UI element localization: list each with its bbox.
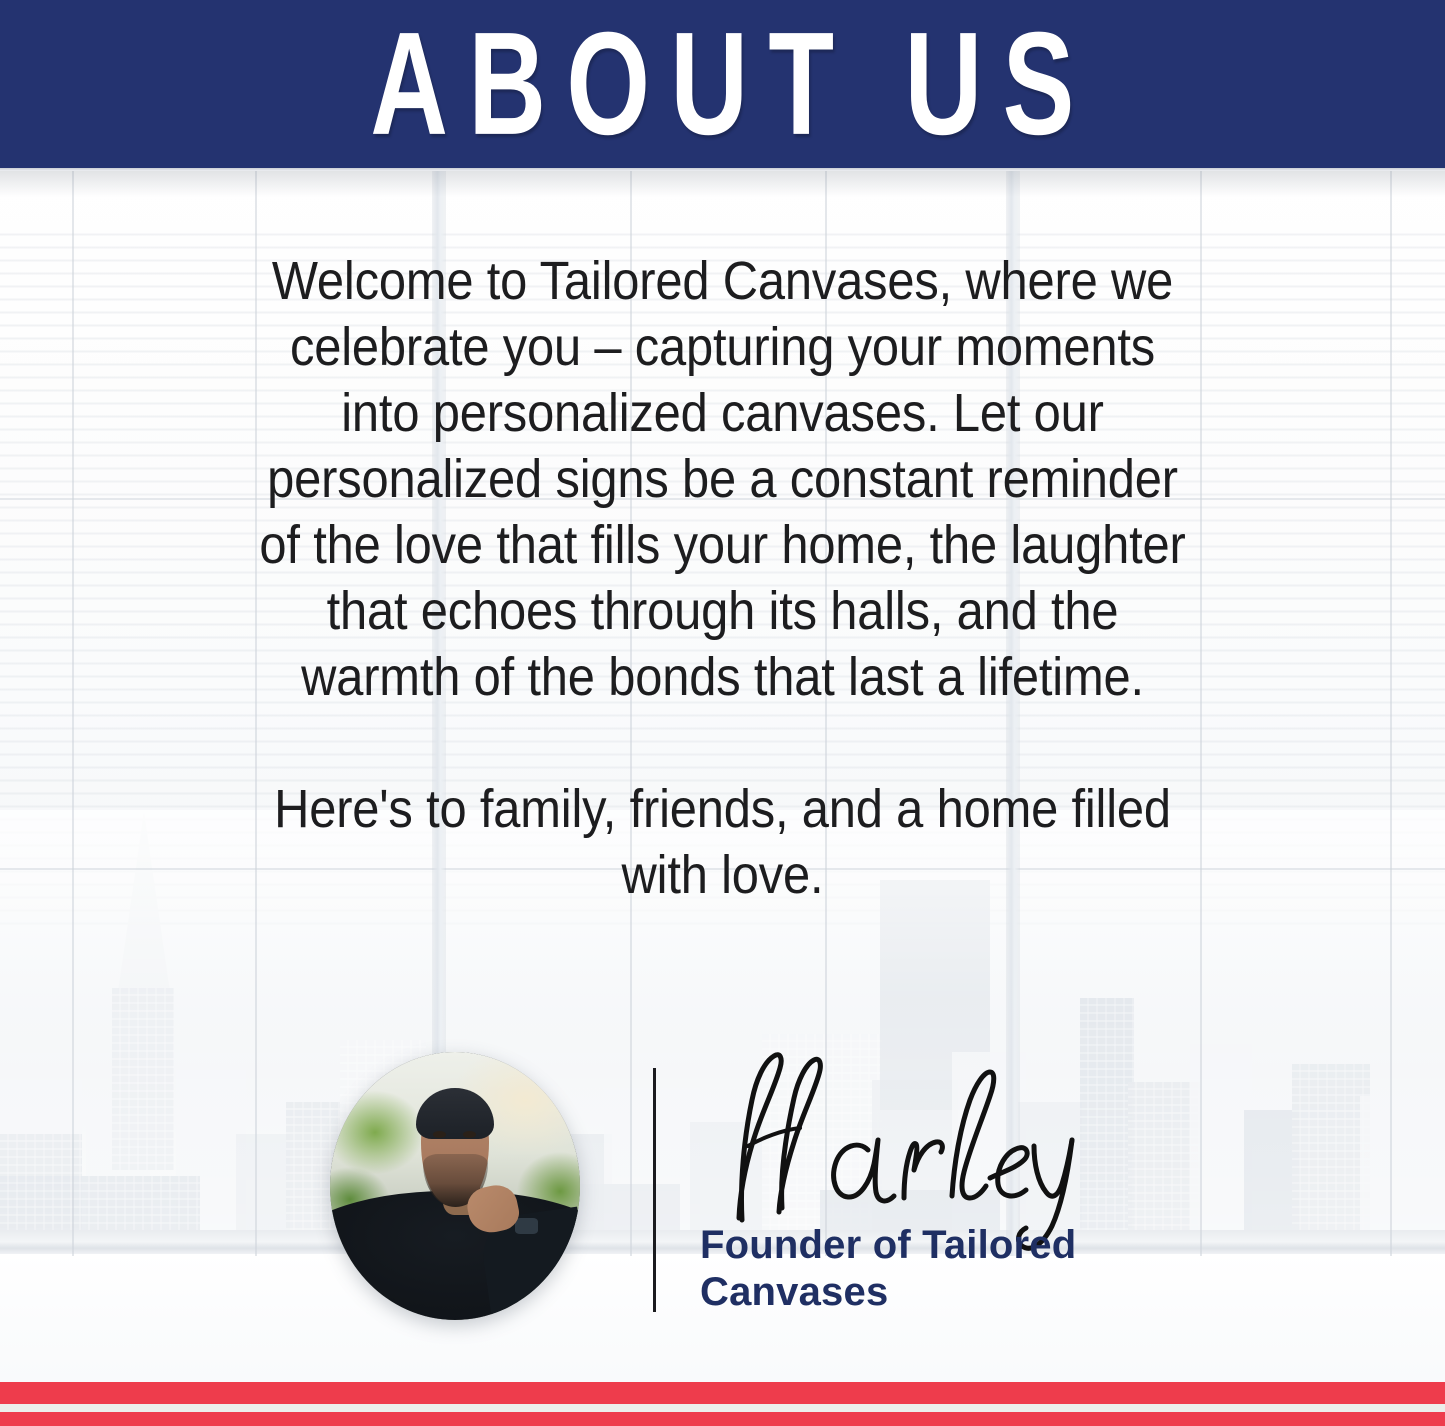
copy-line: that echoes through its halls, and the <box>69 578 1377 644</box>
page-title: ABOUT US <box>350 11 1095 157</box>
founder-role-line-1: Founder of Tailored <box>700 1222 1220 1269</box>
copy-line: of the love that fills your home, the la… <box>69 512 1377 578</box>
copy-line: celebrate you – capturing your moments <box>69 314 1377 380</box>
avatar <box>330 1052 580 1320</box>
founder-role-line-2: Canvases <box>700 1269 1220 1316</box>
copy-line: personalized signs be a constant reminde… <box>69 446 1377 512</box>
copy-line: warmth of the bonds that last a lifetime… <box>69 644 1377 710</box>
copy-line: Here's to family, friends, and a home fi… <box>69 776 1377 842</box>
avatar-wristwatch <box>515 1218 538 1234</box>
paragraph-2: Here's to family, friends, and a home fi… <box>0 776 1445 908</box>
paragraph-spacer <box>0 710 1445 776</box>
avatar-eye <box>433 1131 447 1138</box>
paragraph-1: Welcome to Tailored Canvases, where we c… <box>0 248 1445 710</box>
footer-stripe-gap <box>0 1404 1445 1412</box>
copy-line: Welcome to Tailored Canvases, where we <box>69 248 1377 314</box>
about-us-poster: ABOUT US Welcome to Tailored Canvases, w… <box>0 0 1445 1426</box>
footer-stripe-top <box>0 1382 1445 1404</box>
about-us-banner: ABOUT US <box>0 0 1445 168</box>
founder-role: Founder of Tailored Canvases <box>700 1222 1220 1316</box>
vertical-divider <box>653 1068 656 1312</box>
banner-drop-shadow <box>0 171 1445 197</box>
avatar-eye <box>463 1131 477 1138</box>
copy-line: into personalized canvases. Let our <box>69 380 1377 446</box>
about-us-body-copy: Welcome to Tailored Canvases, where we c… <box>0 248 1445 908</box>
copy-line: with love. <box>69 842 1377 908</box>
footer-stripe-bottom <box>0 1412 1445 1426</box>
